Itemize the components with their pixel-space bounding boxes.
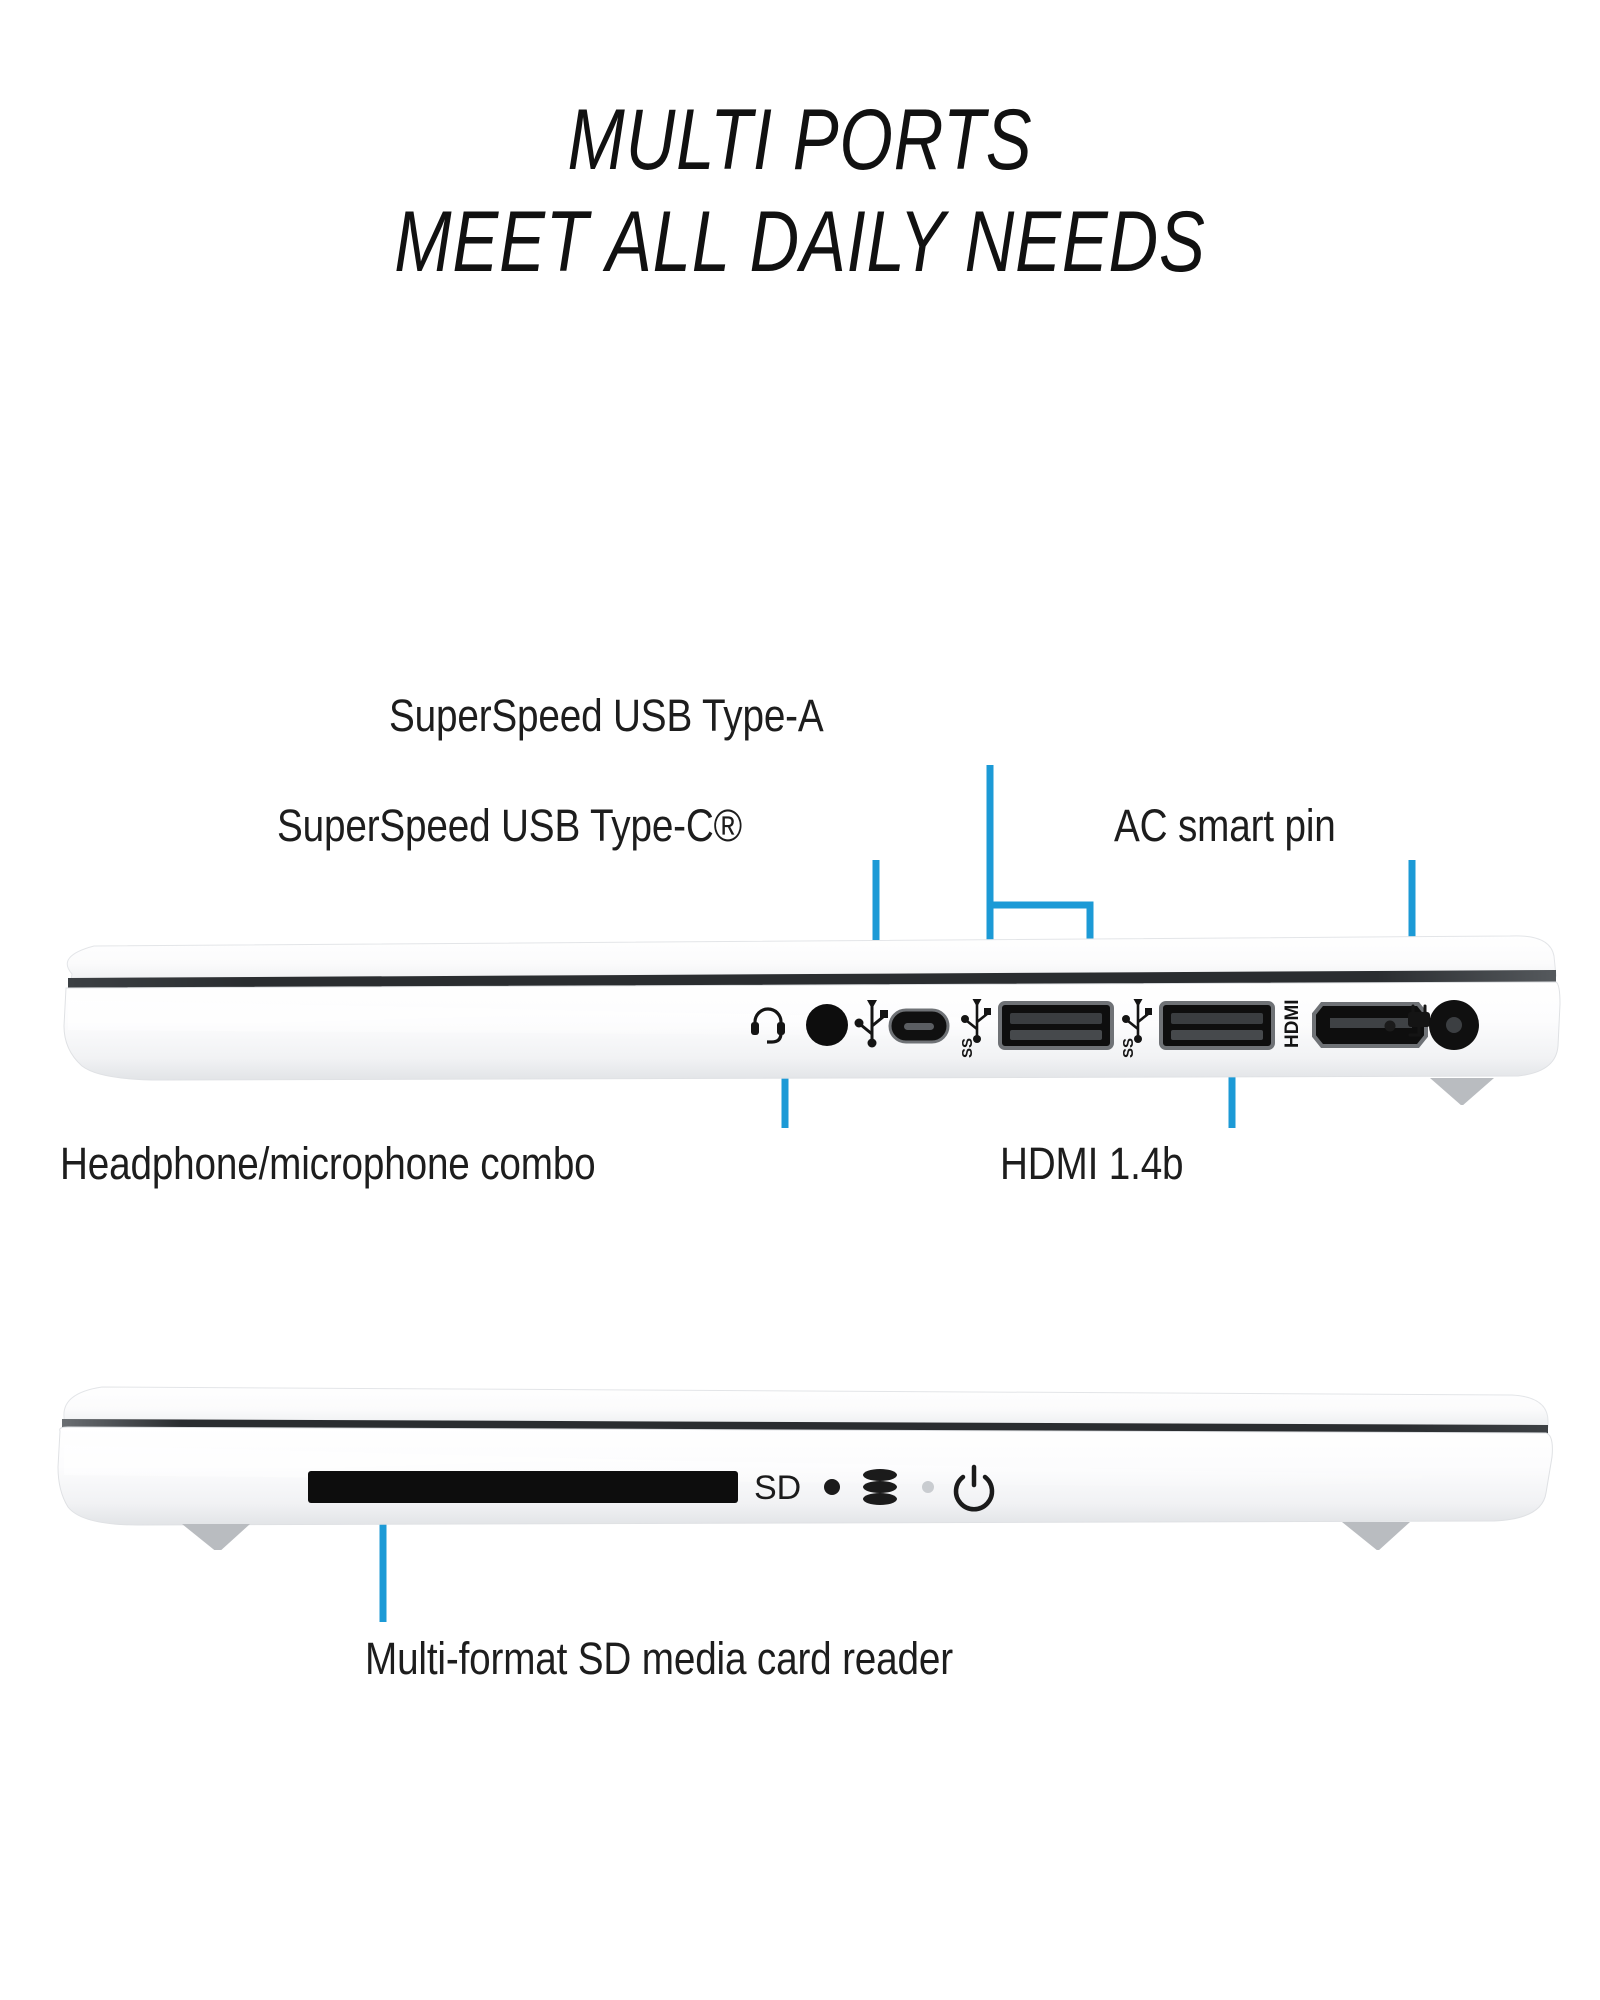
title-line-1: MULTI PORTS <box>160 92 1440 188</box>
page-title: MULTI PORTS MEET ALL DAILY NEEDS <box>0 92 1600 291</box>
superspeed-label-1: SS <box>959 1038 976 1058</box>
usb-c-port[interactable] <box>890 1010 948 1042</box>
sd-slot-label: SD <box>754 1469 801 1507</box>
laptop-top-right-side-profile: SS SS HDMI <box>42 930 1562 1105</box>
usb-a-port-1[interactable] <box>1000 1003 1112 1048</box>
callout-label-headphone-microphone-combo: Headphone/microphone combo <box>60 1138 596 1190</box>
laptop-bottom-left-side-profile: SD <box>42 1375 1562 1550</box>
audio-jack-port[interactable] <box>806 1004 848 1046</box>
superspeed-label-2: SS <box>1120 1038 1137 1058</box>
callout-label-sd-card-reader: Multi-format SD media card reader <box>365 1633 953 1685</box>
drive-activity-icon <box>863 1469 897 1505</box>
sd-card-slot[interactable] <box>308 1471 738 1503</box>
laptop-foot-top-right <box>1430 1078 1494 1105</box>
ac-barrel-jack[interactable] <box>1429 1000 1479 1050</box>
callout-label-usb-type-a: SuperSpeed USB Type-A <box>389 690 824 742</box>
laptop-body-bottom: SD <box>42 1375 1562 1550</box>
laptop-foot-bottom-left <box>182 1524 250 1550</box>
title-line-2: MEET ALL DAILY NEEDS <box>160 194 1440 290</box>
callout-label-hdmi: HDMI 1.4b <box>1000 1138 1183 1190</box>
laptop-body-top: SS SS HDMI <box>42 930 1562 1105</box>
callout-label-usb-type-c: SuperSpeed USB Type-C® <box>277 800 742 852</box>
laptop-foot-bottom-right <box>1342 1522 1410 1550</box>
power-led-indicator-bottom <box>922 1481 934 1493</box>
status-led-indicator <box>824 1479 840 1495</box>
usb-a-port-2[interactable] <box>1161 1003 1273 1048</box>
callout-label-ac-smart-pin: AC smart pin <box>1114 800 1336 852</box>
hdmi-port-label: HDMI <box>1282 999 1303 1048</box>
power-led-indicator <box>1385 1021 1396 1032</box>
